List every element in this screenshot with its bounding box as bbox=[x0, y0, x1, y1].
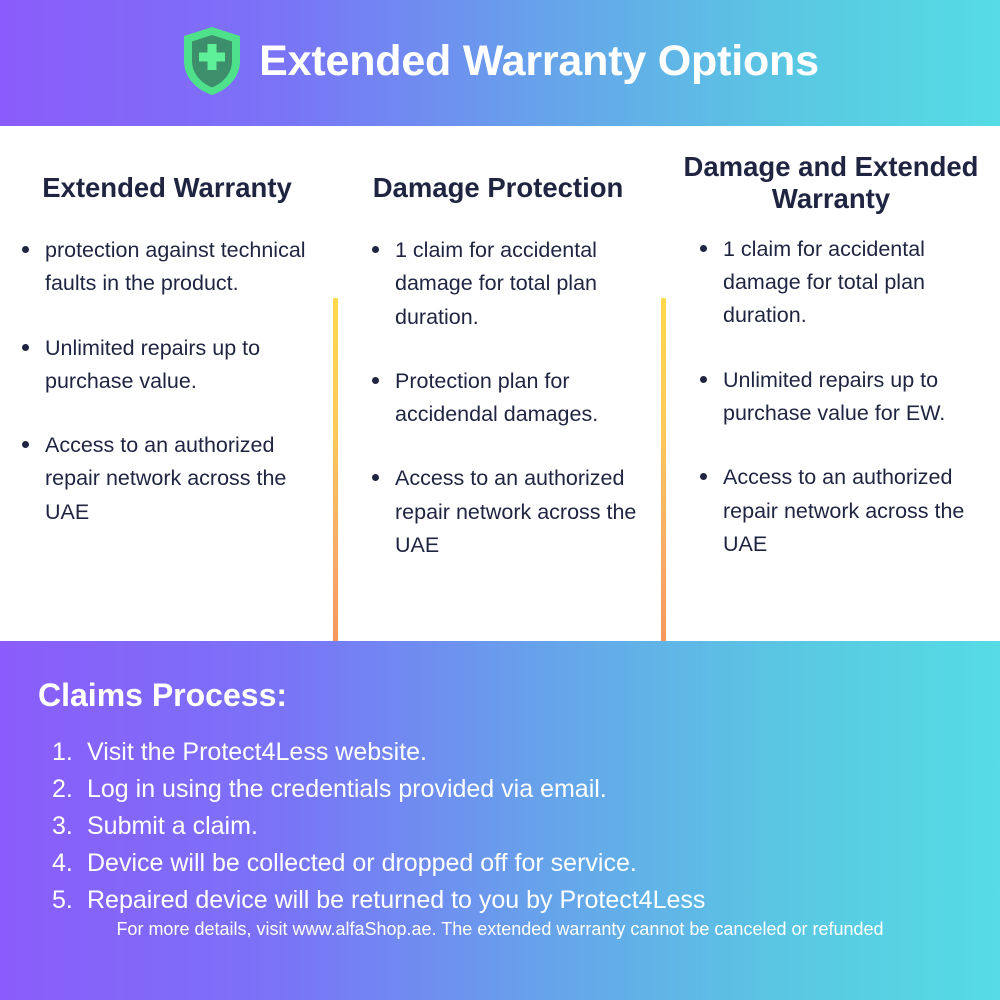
bullet-dot-icon bbox=[372, 474, 379, 481]
bullet-dot-icon bbox=[700, 473, 707, 480]
list-item: 1 claim for accidental damage for total … bbox=[698, 233, 982, 333]
list-item: Access to an authorized repair network a… bbox=[698, 461, 982, 561]
bullet-dot-icon bbox=[22, 441, 29, 448]
list-item: Protection plan for accidendal damages. bbox=[370, 365, 644, 432]
column-heading: Damage Protection bbox=[334, 172, 662, 204]
footer-disclaimer: For more details, visit www.alfaShop.ae.… bbox=[0, 919, 1000, 940]
bullet-text: Access to an authorized repair network a… bbox=[723, 465, 964, 556]
claims-process-title: Claims Process: bbox=[38, 677, 287, 714]
header-content: Extended Warranty Options bbox=[181, 25, 819, 97]
claims-process-banner: Claims Process: Visit the Protect4Less w… bbox=[0, 641, 1000, 1000]
bullet-text: 1 claim for accidental damage for total … bbox=[723, 237, 925, 328]
column-bullet-list: 1 claim for accidental damage for total … bbox=[334, 234, 662, 563]
bullet-dot-icon bbox=[700, 245, 707, 252]
page-title: Extended Warranty Options bbox=[259, 37, 819, 86]
bullet-text: protection against technical faults in t… bbox=[45, 238, 306, 295]
list-item: Device will be collected or dropped off … bbox=[52, 845, 980, 882]
bullet-text: 1 claim for accidental damage for total … bbox=[395, 238, 597, 329]
list-item: Unlimited repairs up to purchase value f… bbox=[698, 364, 982, 431]
list-item: Repaired device will be returned to you … bbox=[52, 882, 980, 919]
claims-process-steps: Visit the Protect4Less website. Log in u… bbox=[52, 734, 980, 919]
column-extended-warranty: Extended Warranty protection against tec… bbox=[0, 126, 334, 641]
column-damage-protection: Damage Protection 1 claim for accidental… bbox=[334, 126, 662, 641]
column-bullet-list: protection against technical faults in t… bbox=[0, 234, 334, 529]
list-item: Visit the Protect4Less website. bbox=[52, 734, 980, 771]
warranty-options-infographic: Extended Warranty Options Extended Warra… bbox=[0, 0, 1000, 1000]
comparison-columns: Extended Warranty protection against tec… bbox=[0, 126, 1000, 641]
header-banner: Extended Warranty Options bbox=[0, 0, 1000, 126]
shield-plus-icon bbox=[181, 25, 243, 97]
bullet-dot-icon bbox=[22, 246, 29, 253]
list-item: protection against technical faults in t… bbox=[20, 234, 312, 301]
bullet-text: Unlimited repairs up to purchase value. bbox=[45, 336, 260, 393]
list-item: 1 claim for accidental damage for total … bbox=[370, 234, 644, 334]
bullet-text: Access to an authorized repair network a… bbox=[395, 466, 636, 557]
bullet-dot-icon bbox=[700, 376, 707, 383]
list-item: Log in using the credentials provided vi… bbox=[52, 771, 980, 808]
column-damage-and-extended-warranty: Damage and Extended Warranty 1 claim for… bbox=[662, 126, 1000, 641]
list-item: Unlimited repairs up to purchase value. bbox=[20, 332, 312, 399]
column-heading: Extended Warranty bbox=[0, 172, 334, 204]
bullet-text: Unlimited repairs up to purchase value f… bbox=[723, 368, 945, 425]
bullet-dot-icon bbox=[372, 377, 379, 384]
list-item: Access to an authorized repair network a… bbox=[20, 429, 312, 529]
column-bullet-list: 1 claim for accidental damage for total … bbox=[662, 233, 1000, 562]
bullet-dot-icon bbox=[372, 246, 379, 253]
list-item: Access to an authorized repair network a… bbox=[370, 462, 644, 562]
bullet-text: Access to an authorized repair network a… bbox=[45, 433, 286, 524]
column-heading: Damage and Extended Warranty bbox=[662, 151, 1000, 215]
list-item: Submit a claim. bbox=[52, 808, 980, 845]
bullet-dot-icon bbox=[22, 344, 29, 351]
bullet-text: Protection plan for accidendal damages. bbox=[395, 369, 598, 426]
